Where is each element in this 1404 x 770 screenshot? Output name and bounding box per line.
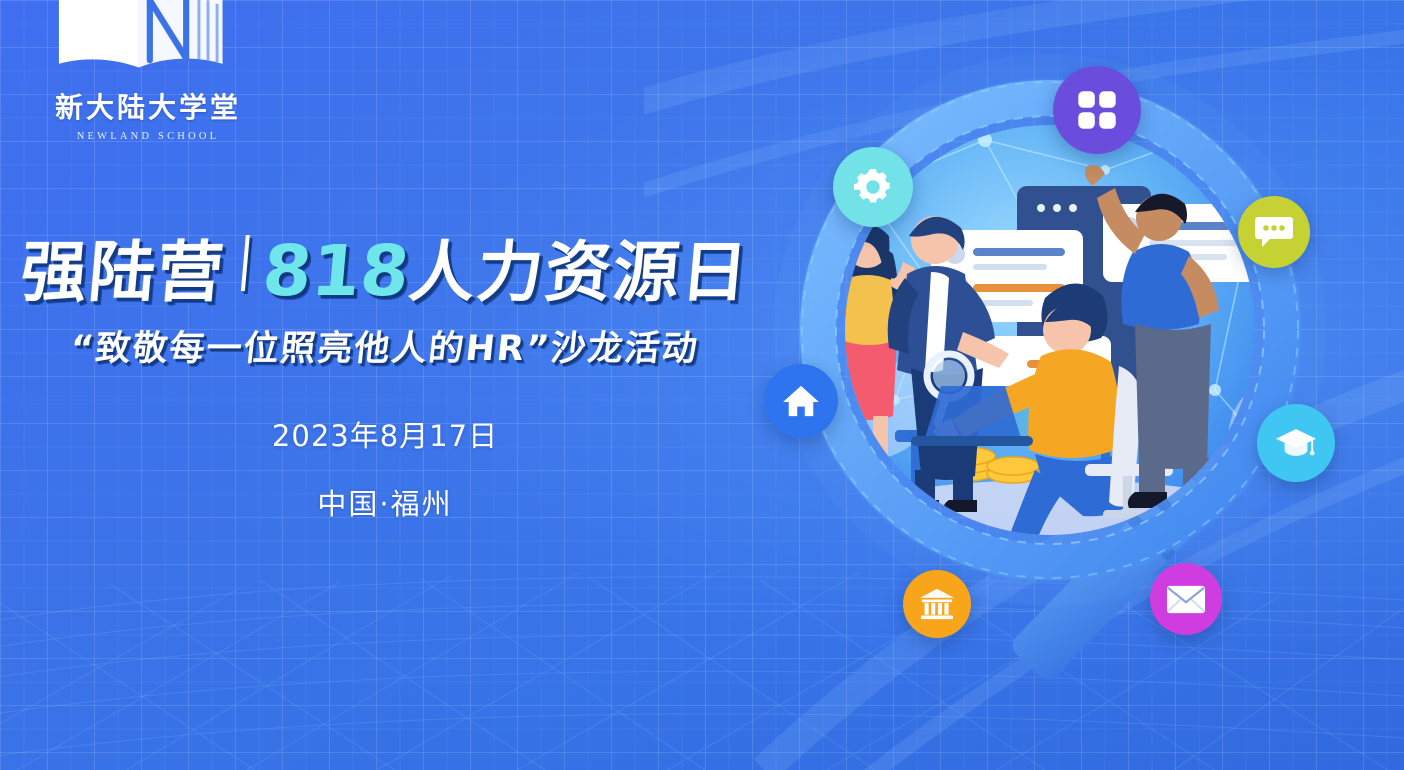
envelope-icon <box>1166 585 1206 614</box>
title-separator <box>241 235 250 291</box>
grid-icon-badge[interactable] <box>1053 66 1141 154</box>
gear-icon-badge[interactable] <box>833 147 913 227</box>
open-book-n-icon <box>48 24 248 86</box>
home-icon <box>782 384 820 418</box>
logo-name-en: NEWLAND SCHOOL <box>48 131 248 142</box>
event-location: 中国·福州 <box>0 481 770 523</box>
title-number: 818 <box>260 236 412 306</box>
title-tail: 人力资源日 <box>406 240 752 306</box>
home-icon-badge[interactable] <box>764 364 838 438</box>
grid-icon <box>1075 88 1119 132</box>
event-date: 2023年8月17日 <box>0 413 770 455</box>
poster-canvas: 新大陆大学堂 NEWLAND SCHOOL 强陆营 818 人力资源日 “致敬每… <box>0 0 1404 770</box>
graduation-cap-icon <box>1275 427 1317 460</box>
headline-block: 强陆营 818 人力资源日 “致敬每一位照亮他人的HR”沙龙活动 2023年8月… <box>0 236 770 523</box>
bank-icon <box>919 588 955 620</box>
event-meta: 2023年8月17日 中国·福州 <box>0 413 770 523</box>
gear-icon <box>852 166 894 208</box>
chat-bubble-icon-badge[interactable] <box>1238 196 1310 268</box>
graduation-cap-icon-badge[interactable] <box>1257 404 1335 482</box>
title-lead: 强陆营 <box>18 240 228 306</box>
chat-bubble-icon <box>1254 215 1294 249</box>
subtitle: “致敬每一位照亮他人的HR”沙龙活动 <box>0 320 773 371</box>
logo-name-cn: 新大陆大学堂 <box>48 94 248 122</box>
envelope-icon-badge[interactable] <box>1150 563 1222 635</box>
brand-logo[interactable]: 新大陆大学堂 NEWLAND SCHOOL <box>48 24 248 142</box>
bank-icon-badge[interactable] <box>903 570 971 638</box>
main-title: 强陆营 818 人力资源日 <box>0 236 770 306</box>
